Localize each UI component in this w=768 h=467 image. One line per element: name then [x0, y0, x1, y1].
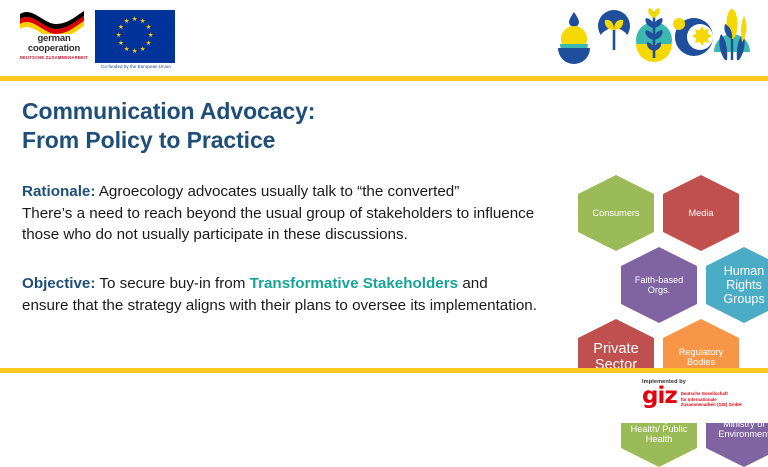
seedling-leaf-icon — [598, 10, 630, 60]
rationale-label: Rationale: — [22, 183, 95, 200]
eu-star-icon: ★ — [124, 47, 130, 54]
objective-text-before: To secure buy-in from — [95, 275, 249, 292]
german-cooperation-logo: german cooperation DEUTSCHE ZUSAMMENARBE… — [18, 8, 86, 64]
slide-header: german cooperation DEUTSCHE ZUSAMMENARBE… — [0, 0, 768, 78]
eu-star-icon: ★ — [118, 41, 124, 48]
wheat-stalk-icon — [636, 8, 672, 62]
eu-star-icon: ★ — [148, 33, 154, 40]
german-flag-ribbon-icon — [18, 8, 86, 34]
hex-label: Faith-based Orgs. — [623, 275, 695, 296]
hex-cell[interactable]: Media — [663, 175, 739, 251]
german-logo-line2: cooperation — [19, 44, 89, 54]
rationale-body-text: There’s a need to reach beyond the usual… — [22, 205, 534, 244]
hex-label: Regulatory Bodies — [665, 347, 737, 368]
hex-label: Human Rights Groups — [708, 264, 768, 306]
giz-full-name: Deutsche Gesellschaftfür InternationaleZ… — [681, 386, 742, 408]
maize-hands-icon — [714, 9, 750, 60]
eu-star-icon: ★ — [124, 19, 130, 26]
slide-content: Communication Advocacy: From Policy to P… — [0, 81, 768, 368]
title-line-1: Communication Advocacy: — [22, 97, 542, 126]
objective-paragraph: Objective: To secure buy-in from Transfo… — [22, 273, 537, 316]
rationale-paragraph: Rationale: Agroecology advocates usually… — [22, 181, 537, 246]
german-cooperation-wordmark: german cooperation DEUTSCHE ZUSAMMENARBE… — [19, 34, 89, 61]
title-line-2: From Policy to Practice — [22, 126, 542, 155]
eu-star-icon: ★ — [132, 49, 138, 56]
hex-cell[interactable]: Faith-based Orgs. — [621, 247, 697, 323]
header-icon-band — [554, 6, 750, 68]
rationale-inline-text: Agroecology advocates usually talk to “t… — [95, 183, 459, 200]
implemented-by-block: Implemented by giz Deutsche Gesellschaft… — [642, 379, 750, 408]
hex-cell[interactable]: Human Rights Groups — [706, 247, 768, 323]
eu-star-icon: ★ — [146, 41, 152, 48]
hex-label: Consumers — [593, 208, 640, 218]
slide-footer: Implemented by giz Deutsche Gesellschaft… — [0, 373, 768, 423]
sun-plant-icon — [673, 18, 713, 56]
hex-label: Media — [688, 208, 713, 218]
eu-star-icon: ★ — [116, 33, 122, 40]
transformative-stakeholders-highlight: Transformative Stakeholders — [250, 275, 459, 292]
german-logo-line3: DEUTSCHE ZUSAMMENARBEIT — [19, 55, 89, 61]
hex-cell[interactable]: Consumers — [578, 175, 654, 251]
eu-funding-caption: Co-funded by the European Union — [91, 64, 181, 69]
eu-star-icon: ★ — [118, 25, 124, 32]
eu-flag-icon: ★★★★★★★★★★★★ — [95, 10, 175, 63]
eu-logo: ★★★★★★★★★★★★ Co-funded by the European U… — [95, 10, 179, 68]
giz-wordmark: giz — [642, 386, 677, 406]
eu-star-icon: ★ — [132, 17, 138, 24]
slide-root: german cooperation DEUTSCHE ZUSAMMENARBE… — [0, 0, 768, 423]
eu-star-icon: ★ — [140, 47, 146, 54]
giz-name-line: Zusammenarbeit (GIZ) GmbH — [681, 402, 742, 408]
objective-label: Objective: — [22, 275, 95, 292]
eu-star-icon: ★ — [146, 25, 152, 32]
giz-logo: giz Deutsche Gesellschaftfür Internation… — [642, 386, 750, 408]
page-title: Communication Advocacy: From Policy to P… — [22, 97, 542, 155]
water-drop-icon — [558, 12, 590, 64]
